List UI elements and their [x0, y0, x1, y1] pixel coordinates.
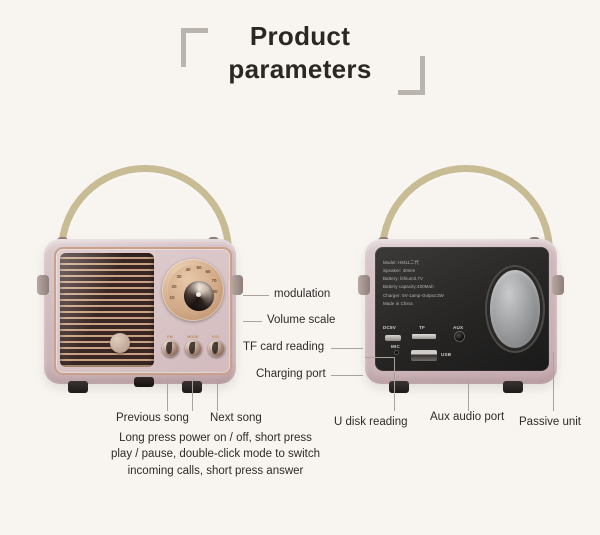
tf-card-slot[interactable] — [412, 334, 436, 339]
callout-passive-unit: Passive unit — [519, 417, 581, 429]
knob-label: VOL — [206, 335, 226, 339]
speaker-grille — [60, 253, 154, 367]
callout-press-instructions: Long press power on / off, short press p… — [108, 430, 323, 479]
spec-line-speaker: Speaker: 40mm — [383, 267, 493, 275]
leader-line-passive-unit — [553, 352, 554, 411]
spec-line-origin: Made in China — [383, 300, 493, 308]
dial-number: 30 — [174, 275, 184, 280]
callout-modulation: modulation — [274, 289, 330, 301]
dial-number: 10 — [167, 296, 177, 301]
callout-next-song: Next song — [210, 413, 262, 425]
usb-port[interactable] — [411, 350, 437, 361]
control-knob-row: FM MODE VOL — [160, 335, 226, 369]
callout-tf-card-reading: TF card reading — [243, 342, 324, 354]
foot-left — [68, 381, 88, 393]
leader-line-modulation — [243, 295, 269, 296]
port-label-mic: MIC — [391, 344, 400, 349]
callout-u-disk-reading: U disk reading — [334, 417, 408, 429]
dial-number: 70 — [209, 279, 219, 284]
tuning-dial[interactable]: 10 20 30 40 50 60 70 80 90 — [162, 259, 224, 321]
side-knob — [358, 275, 370, 295]
side-port — [231, 275, 243, 295]
leader-line-next-song — [217, 378, 218, 411]
product-parameters-page: Product parameters 10 20 30 40 50 — [0, 0, 600, 535]
front-face-panel: 10 20 30 40 50 60 70 80 90 FM — [54, 247, 232, 375]
knob-dial[interactable] — [185, 340, 202, 357]
callout-volume-scale: Volume scale — [267, 315, 335, 327]
spec-line-battery: Battery: lithium3.7V — [383, 275, 493, 283]
callout-aux-audio-port: Aux audio port — [430, 412, 504, 424]
back-panel: Model: HM11二代 Speaker: 40mm Battery: lit… — [375, 247, 549, 371]
leader-line-mode — [192, 378, 193, 411]
charging-port-dc5v[interactable] — [385, 335, 401, 341]
knob-label: FM — [160, 335, 180, 339]
foot-right — [503, 381, 523, 393]
port-label-usb: USB — [441, 352, 451, 357]
grille-center-knob — [110, 333, 130, 353]
knob-dial[interactable] — [162, 340, 179, 357]
callout-charging-port: Charging port — [256, 369, 326, 381]
spec-line-charger: Charger: 5V-1amp-Output:3W — [383, 292, 493, 300]
knob-previous-song[interactable]: FM — [160, 335, 180, 357]
port-label-dc5v: DC5V — [383, 325, 396, 330]
leader-line-aux-audio — [468, 380, 469, 411]
knob-power-mode[interactable]: MODE — [183, 335, 203, 357]
spec-text-block: Model: HM11二代 Speaker: 40mm Battery: lit… — [383, 259, 493, 308]
passive-radiator — [490, 270, 540, 348]
leader-line-u-disk — [394, 357, 395, 411]
dial-number: 60 — [203, 270, 213, 275]
port-label-tf: TF — [419, 325, 425, 330]
leader-line-u-disk-h — [365, 357, 395, 358]
microphone-hole — [395, 351, 398, 354]
page-title: Product parameters — [0, 20, 600, 87]
dial-pin — [196, 292, 201, 297]
leader-line-previous-song — [167, 378, 168, 411]
callout-previous-song: Previous song — [116, 413, 189, 425]
spec-line-model: Model: HM11二代 — [383, 259, 493, 267]
port-label-aux: AUX — [453, 325, 463, 330]
leader-line-volume-scale — [243, 321, 262, 322]
dial-number: 20 — [169, 285, 179, 290]
side-knob — [37, 275, 49, 295]
port-panel: DC5V TF AUX MIC USB — [381, 325, 491, 369]
speaker-front-view: 10 20 30 40 50 60 70 80 90 FM — [30, 165, 260, 410]
spec-line-capacity: Battery capacity:400Mah — [383, 283, 493, 291]
leader-line-tf-card — [331, 348, 363, 349]
leader-line-charging-port — [331, 375, 363, 376]
knob-next-song[interactable]: VOL — [206, 335, 226, 357]
page-title-line-2: parameters — [0, 53, 600, 86]
aux-audio-jack[interactable] — [455, 332, 464, 341]
knob-label: MODE — [183, 335, 203, 339]
grille-gloss — [60, 253, 154, 367]
dial-number: 40 — [183, 268, 193, 273]
side-port — [552, 275, 564, 295]
speaker-back-view: Model: HM11二代 Speaker: 40mm Battery: lit… — [350, 165, 580, 410]
dial-ring: 10 20 30 40 50 60 70 80 90 — [168, 265, 218, 315]
foot-left — [389, 381, 409, 393]
page-title-line-1: Product — [0, 20, 600, 53]
knob-dial[interactable] — [208, 340, 225, 357]
bottom-jack — [134, 377, 154, 387]
